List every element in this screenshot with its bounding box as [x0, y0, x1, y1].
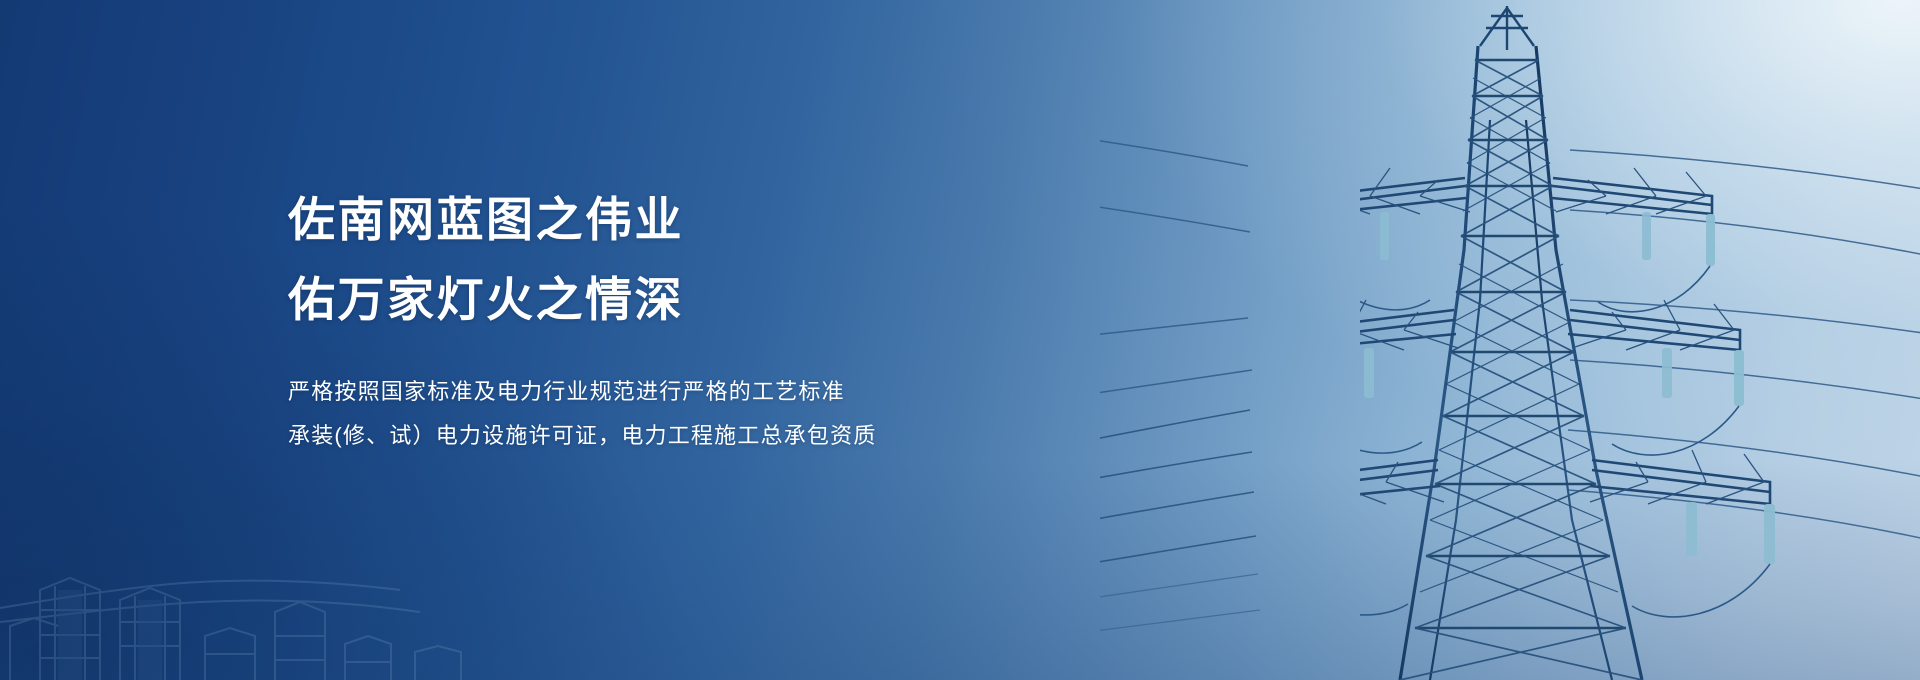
subtitle-line-2: 承装(修、试）电力设施许可证，电力工程施工总承包资质: [288, 414, 1048, 458]
subtitle-block: 严格按照国家标准及电力行业规范进行严格的工艺标准 承装(修、试）电力设施许可证，…: [288, 370, 1048, 458]
ghost-substation-silhouette-icon: [0, 440, 520, 680]
headline-line-2: 佑万家灯火之情深: [288, 266, 1048, 334]
transmission-tower-icon: [1360, 0, 1920, 680]
tower-image-region: [1100, 0, 1920, 680]
subtitle-line-1: 严格按照国家标准及电力行业规范进行严格的工艺标准: [288, 370, 1048, 414]
hero-banner: 佐南网蓝图之伟业 佑万家灯火之情深 严格按照国家标准及电力行业规范进行严格的工艺…: [0, 0, 1920, 680]
headline-line-1: 佐南网蓝图之伟业: [288, 186, 1048, 254]
banner-text-block: 佐南网蓝图之伟业 佑万家灯火之情深 严格按照国家标准及电力行业规范进行严格的工艺…: [288, 186, 1048, 458]
